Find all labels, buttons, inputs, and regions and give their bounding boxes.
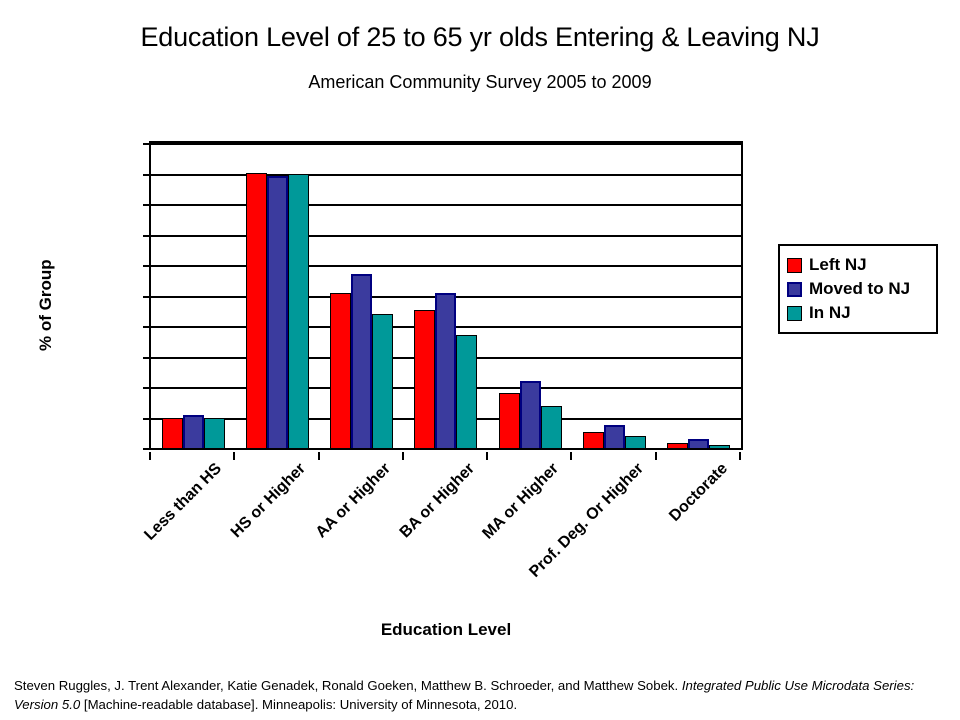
y-axis-title: % of Group <box>33 240 59 370</box>
plot-area: 100%90%80%70%60%50%40%30%20%10%0% <box>149 141 743 450</box>
x-axis-tick-marks <box>149 452 743 460</box>
bar <box>162 418 183 448</box>
y-axis-tick <box>143 418 151 420</box>
x-axis-label: MA or Higher <box>480 460 563 543</box>
citation-text: Steven Ruggles, J. Trent Alexander, Kati… <box>14 676 950 714</box>
bar-group <box>320 143 404 448</box>
bar <box>288 174 309 449</box>
bar <box>499 393 520 448</box>
y-axis-tick <box>143 174 151 176</box>
bar <box>541 406 562 448</box>
x-axis-label: AA or Higher <box>312 460 394 542</box>
legend-label: In NJ <box>809 303 851 323</box>
legend-item[interactable]: Moved to NJ <box>787 277 930 301</box>
chart-legend: Left NJMoved to NJIn NJ <box>778 244 938 334</box>
bar-group <box>488 143 572 448</box>
bar <box>351 274 372 448</box>
bar <box>709 445 730 448</box>
bar <box>414 310 435 448</box>
x-axis-category-labels: Less than HSHS or HigherAA or HigherBA o… <box>149 460 743 610</box>
bar-group <box>151 143 235 448</box>
y-axis-tick <box>143 143 151 145</box>
x-axis-tick <box>318 452 320 460</box>
legend-item[interactable]: Left NJ <box>787 253 930 277</box>
bar <box>372 314 393 448</box>
bar <box>520 381 541 448</box>
bar-group <box>657 143 741 448</box>
bar-group <box>235 143 319 448</box>
citation-part-1: Steven Ruggles, J. Trent Alexander, Kati… <box>14 678 678 693</box>
bar <box>246 173 267 448</box>
x-axis-label: Less than HS <box>141 460 225 544</box>
y-axis-tick <box>143 204 151 206</box>
x-axis-tick <box>739 452 741 460</box>
legend-color-swatch <box>787 258 802 273</box>
y-axis-tick <box>143 265 151 267</box>
x-axis-tick <box>570 452 572 460</box>
legend-color-swatch <box>787 282 802 297</box>
y-axis-tick <box>143 387 151 389</box>
x-axis-tick <box>486 452 488 460</box>
bar <box>183 415 204 448</box>
citation-part-2: [Machine-readable database]. Minneapolis… <box>84 697 517 712</box>
x-axis-label: HS or Higher <box>228 460 310 542</box>
bar <box>625 436 646 449</box>
legend-label: Moved to NJ <box>809 279 910 299</box>
y-axis-tick <box>143 448 151 450</box>
bar-group <box>572 143 656 448</box>
bar <box>456 335 477 448</box>
chart-subtitle: American Community Survey 2005 to 2009 <box>0 72 960 93</box>
y-axis-tick <box>143 357 151 359</box>
chart-canvas: Education Level of 25 to 65 yr olds Ente… <box>0 0 960 720</box>
bar-group <box>404 143 488 448</box>
x-axis-tick <box>402 452 404 460</box>
y-axis-tick <box>143 326 151 328</box>
legend-color-swatch <box>787 306 802 321</box>
bar <box>688 439 709 448</box>
x-axis-title: Education Level <box>149 620 743 640</box>
bar <box>330 293 351 448</box>
y-axis-tick <box>143 296 151 298</box>
bar <box>204 418 225 448</box>
bar <box>604 425 625 448</box>
bar <box>667 443 688 448</box>
y-axis-tick <box>143 235 151 237</box>
bars-layer <box>151 143 741 448</box>
legend-item[interactable]: In NJ <box>787 301 930 325</box>
bar <box>583 432 604 448</box>
x-axis-label: BA or Higher <box>397 460 479 542</box>
legend-label: Left NJ <box>809 255 867 275</box>
x-axis-tick <box>655 452 657 460</box>
x-axis-tick <box>149 452 151 460</box>
x-axis-label: Doctorate <box>666 460 732 526</box>
chart-title: Education Level of 25 to 65 yr olds Ente… <box>0 22 960 53</box>
x-axis-tick <box>233 452 235 460</box>
bar <box>435 293 456 448</box>
bar <box>267 176 288 448</box>
